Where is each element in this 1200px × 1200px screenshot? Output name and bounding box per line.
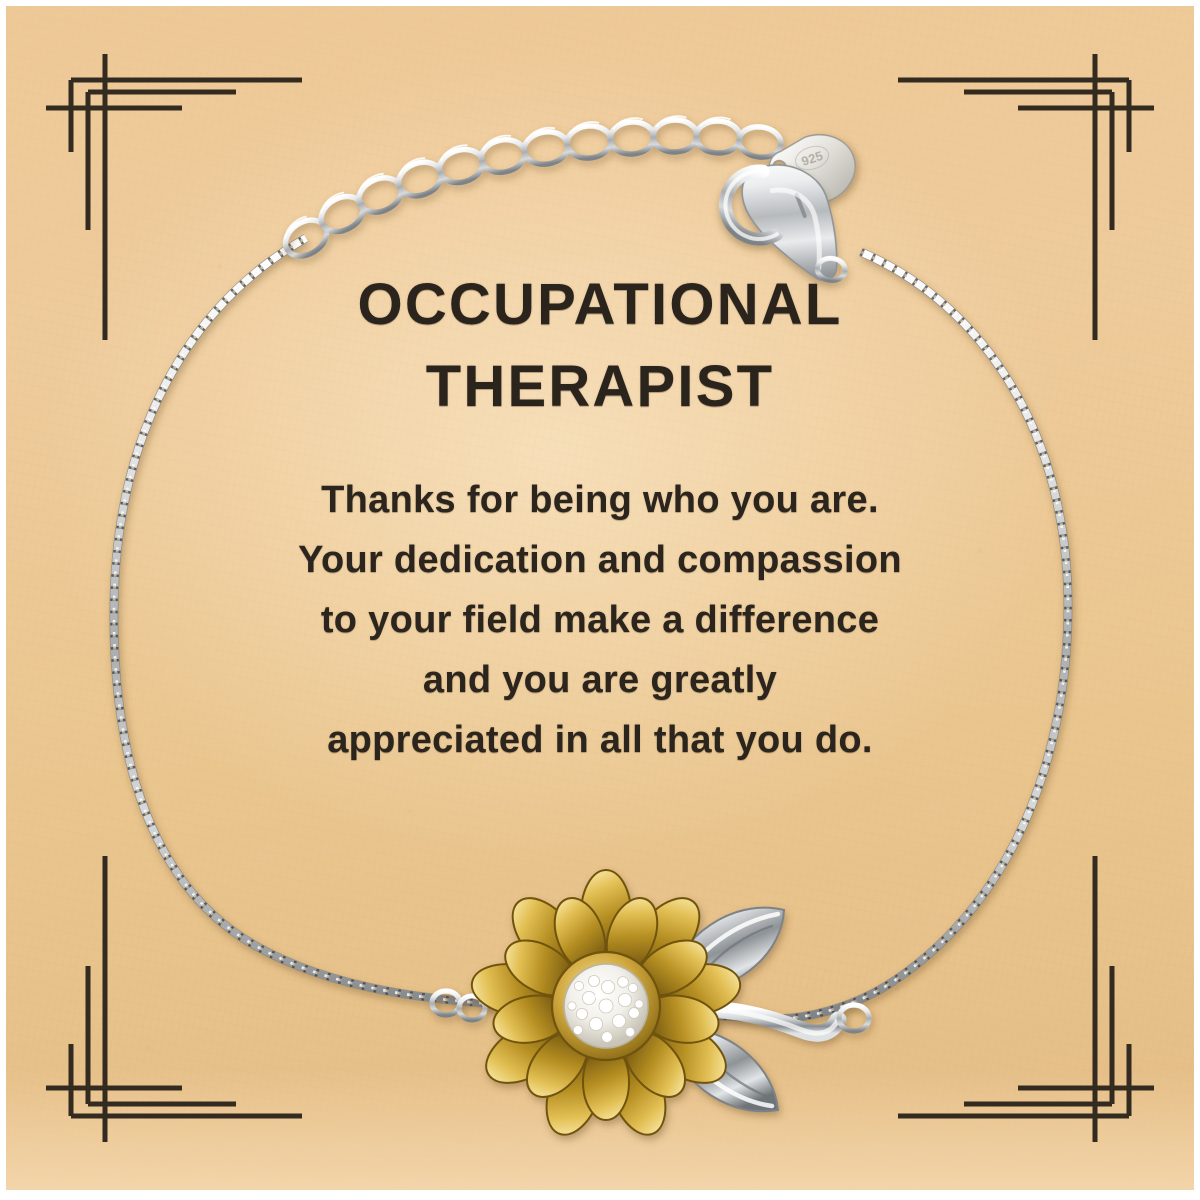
extender-chain: [279, 116, 783, 263]
hallmark-tag: 925: [763, 125, 864, 216]
sunflower-charm: [432, 859, 869, 1154]
card-text-block: Occupational Therapist Thanks for being …: [6, 264, 1194, 770]
paper-bottom-shading: [6, 1070, 1194, 1190]
charm-jump-ring-right: [839, 1005, 869, 1031]
charm-jump-ring-left: [432, 991, 485, 1020]
corner-ornament-bottom-left: [40, 856, 340, 1156]
title-line-1: Occupational: [6, 264, 1194, 346]
product-card: 925: [6, 6, 1194, 1190]
page-title: Occupational Therapist: [6, 264, 1194, 428]
sunflower-petals-outer: [468, 870, 745, 1142]
title-line-2: Therapist: [6, 346, 1194, 428]
message-line-3: to your field make a difference: [6, 590, 1194, 650]
svg-text:925: 925: [800, 148, 825, 169]
sunflower-petals-inner: [457, 859, 754, 1154]
message-line-2: Your dedication and compassion: [6, 530, 1194, 590]
message-line-4: and you are greatly: [6, 650, 1194, 710]
appreciation-message: Thanks for being who you are. Your dedic…: [6, 470, 1194, 770]
pave-crystal-center: [564, 964, 648, 1048]
corner-ornament-bottom-right: [860, 856, 1160, 1156]
message-line-1: Thanks for being who you are.: [6, 470, 1194, 530]
charm-stem-and-leaves: [646, 908, 838, 1112]
message-line-5: appreciated in all that you do.: [6, 710, 1194, 770]
